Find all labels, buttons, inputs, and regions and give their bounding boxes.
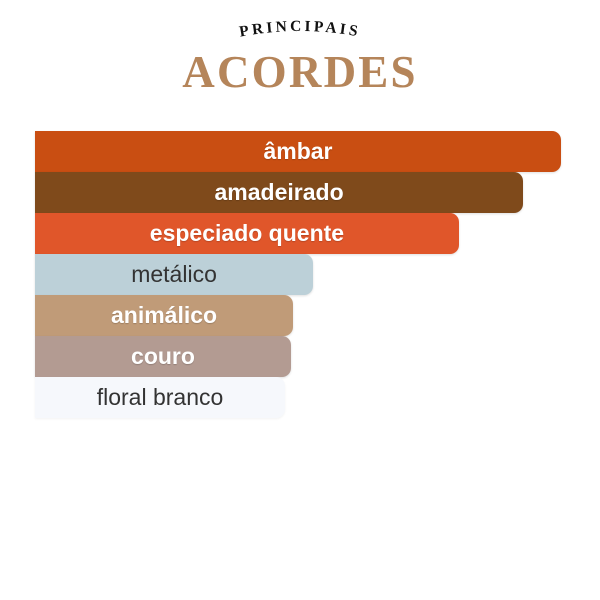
bar-label: metálico	[35, 254, 313, 295]
page-title: ACORDES	[0, 47, 600, 97]
bar-label: âmbar	[35, 131, 561, 172]
header: PRINCIPAIS ACORDES	[0, 0, 600, 118]
bar-row: especiado quente	[35, 213, 575, 254]
bar-row: metálico	[35, 254, 575, 295]
kicker-textpath: PRINCIPAIS	[238, 18, 362, 41]
bar-label: animálico	[35, 295, 293, 336]
bar-row: floral branco	[35, 377, 575, 418]
bar-row: couro	[35, 336, 575, 377]
bar-label: especiado quente	[35, 213, 459, 254]
bar-label: couro	[35, 336, 291, 377]
bar-row: animálico	[35, 295, 575, 336]
bar-row: âmbar	[35, 131, 575, 172]
bar-label: amadeirado	[35, 172, 523, 213]
accords-bar-chart: âmbaramadeiradoespeciado quentemetálicoa…	[35, 131, 575, 421]
bar-label: floral branco	[35, 377, 285, 418]
kicker-label: PRINCIPAIS	[238, 18, 362, 41]
bar-row: amadeirado	[35, 172, 575, 213]
